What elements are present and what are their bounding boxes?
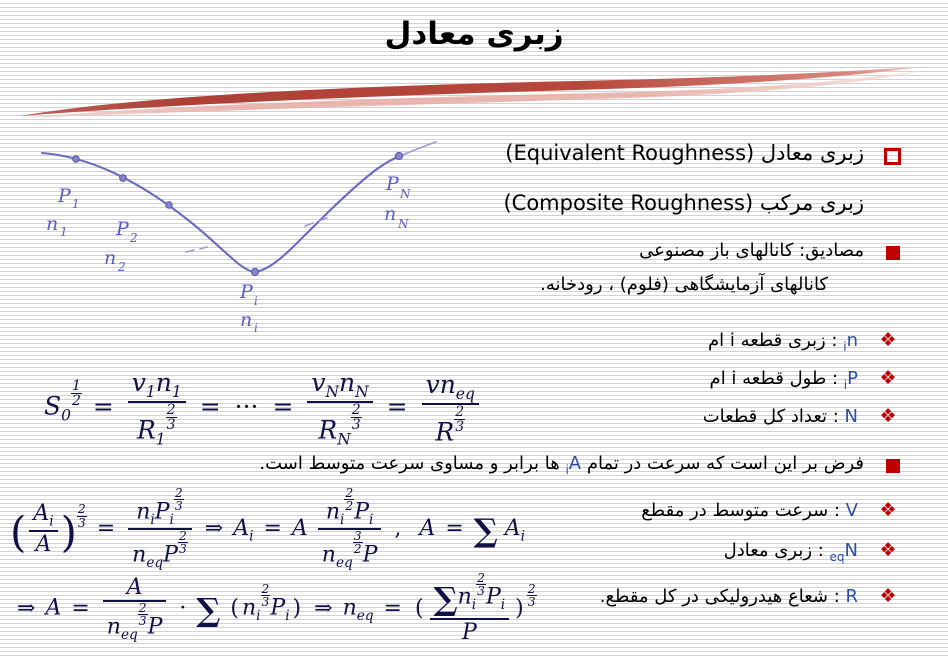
eq3-paren-open-2: ( bbox=[412, 596, 427, 621]
definition-v-text: : سرعت متوسط در مقطع bbox=[641, 500, 845, 521]
bullet-diamond-icon-pi: ❖ bbox=[878, 368, 898, 388]
svg-text:1: 1 bbox=[60, 225, 68, 239]
definition-r-text: : شعاع هیدرولیکی در کل مقطع. bbox=[600, 586, 846, 607]
eq3-implies-1: ⇒ bbox=[14, 596, 38, 621]
page-title: زبری معادل bbox=[0, 16, 948, 52]
eq3-term-p-sub: i bbox=[285, 608, 289, 624]
eq3-fraction-2: ∑ni23Pi P bbox=[430, 572, 510, 645]
svg-text:P: P bbox=[115, 218, 130, 240]
eq2-paren-close: ) bbox=[61, 508, 77, 557]
eq2-sum-term-sub: i bbox=[521, 528, 525, 544]
eq3-term-p: P bbox=[270, 596, 285, 621]
slide-canvas: زبری معادل bbox=[0, 0, 948, 656]
eq1-term-3: vneq R23 bbox=[422, 370, 479, 446]
svg-text:N: N bbox=[399, 187, 411, 201]
eq3-outer-exponent: 23 bbox=[527, 583, 537, 609]
eq3-neq-sub: eq bbox=[357, 608, 374, 624]
heading-line-1: زبری معادل (Equivalent Roughness) bbox=[505, 141, 864, 165]
eq1-term-1: v1n1 R123 bbox=[128, 368, 186, 448]
svg-text:P: P bbox=[57, 185, 72, 207]
svg-text:n: n bbox=[240, 309, 252, 331]
eq1-term-2: vNnN RN23 bbox=[307, 368, 372, 448]
symbol-Neq: N bbox=[845, 540, 858, 561]
eq2-equals-2: = bbox=[260, 516, 284, 541]
symbol-p: P bbox=[847, 368, 858, 389]
symbol-Neq-sub: eq bbox=[830, 550, 845, 564]
eq3-paren-close-2: ) bbox=[512, 596, 527, 621]
eq1-equals-2: = bbox=[197, 392, 224, 421]
eq2-equals-3: = bbox=[442, 516, 466, 541]
eq2-sum-lhs: A bbox=[411, 516, 435, 541]
heading-line-2: زبری مرکب (Composite Roughness) bbox=[503, 191, 864, 215]
svg-text:n: n bbox=[46, 213, 58, 235]
bullet-diamond-icon-v: ❖ bbox=[878, 500, 898, 520]
svg-text:n: n bbox=[104, 247, 116, 269]
eq2-implies: ⇒ bbox=[202, 516, 226, 541]
bullet-hollow-square-heading bbox=[884, 148, 901, 165]
bullet-solid-square-examples bbox=[886, 246, 900, 260]
eq3-implies-2: ⇒ bbox=[311, 596, 335, 621]
definition-v: V : سرعت متوسط در مقطع bbox=[641, 500, 858, 521]
eq3-dot: · bbox=[176, 596, 189, 621]
svg-text:i: i bbox=[254, 294, 258, 308]
eq1-S-sub: 0 bbox=[61, 407, 71, 425]
definition-n: N : تعداد کل قطعات bbox=[703, 406, 858, 427]
eq2-sigma-icon: ∑ bbox=[474, 511, 498, 549]
bullet-diamond-icon-n: ❖ bbox=[878, 406, 898, 426]
eq2-lhs-fraction: Ai A bbox=[29, 501, 57, 556]
eq2-sum-term: A bbox=[505, 516, 521, 541]
eq3-term-exponent: 23 bbox=[261, 583, 271, 609]
assumption-text-a: فرض بر این است که سرعت در تمام bbox=[581, 453, 864, 474]
definition-ni-text: : زبری قطعه i ام bbox=[708, 330, 843, 351]
svg-text:N: N bbox=[397, 217, 409, 231]
examples-line-1: مصادیق: کانالهای باز مصنوعی bbox=[639, 240, 864, 261]
eq3-equals-1: = bbox=[68, 596, 92, 621]
eq2-Ai: A bbox=[233, 516, 249, 541]
bullet-solid-square-assumption bbox=[886, 459, 900, 473]
eq3-paren-open: ( bbox=[227, 596, 242, 621]
eq2-A: A bbox=[292, 516, 308, 541]
bullet-diamond-icon-neq: ❖ bbox=[878, 540, 898, 560]
formula-equivalent-roughness-result: ⇒ A = A neq23P · ∑ (ni23Pi) ⇒ neq = ( ∑n… bbox=[14, 572, 537, 645]
svg-text:i: i bbox=[254, 321, 258, 335]
symbol-n: n bbox=[847, 330, 858, 351]
assumption-text-b: ها برابر و مساوی سرعت متوسط است. bbox=[259, 453, 565, 474]
eq3-term-n-sub: i bbox=[256, 608, 260, 624]
eq3-A: A bbox=[45, 596, 61, 621]
formula-manning-slope-equality: S012 = v1n1 R123 = ··· = vNnN RN23 = vne… bbox=[44, 368, 482, 448]
definition-ni: ni : زبری قطعه i ام bbox=[708, 330, 858, 354]
eq1-ellipsis: ··· bbox=[232, 392, 262, 421]
formula-area-ratio-derivation: ( Ai A )23 = niPi23 neqP23 ⇒ Ai = A ni22… bbox=[10, 487, 525, 571]
examples-line-2: کانالهای آزمایشگاهی (فلوم) ، رودخانه. bbox=[540, 274, 828, 295]
symbol-N: N bbox=[845, 406, 858, 427]
bullet-diamond-icon-ni: ❖ bbox=[878, 330, 898, 350]
eq3-paren-close: ) bbox=[290, 596, 305, 621]
eq2-rhs-fraction-2: ni22Pi neq32P bbox=[318, 487, 382, 571]
eq2-comma: , bbox=[391, 516, 404, 541]
assumption-line: فرض بر این است که سرعت در تمام Ai ها برا… bbox=[259, 453, 864, 477]
eq2-Ai-sub: i bbox=[249, 528, 253, 544]
eq1-equals-4: = bbox=[384, 392, 411, 421]
eq2-rhs-fraction-1: niPi23 neqP23 bbox=[128, 487, 192, 571]
definition-n-text: : تعداد کل قطعات bbox=[703, 406, 845, 427]
eq3-term-n: n bbox=[242, 596, 256, 621]
eq2-paren-open: ( bbox=[10, 508, 26, 557]
eq1-S-exponent: 12 bbox=[71, 379, 82, 408]
eq3-sigma-icon-1: ∑ bbox=[196, 591, 220, 629]
definition-neq: Neq : زبری معادل bbox=[724, 540, 858, 564]
definition-r: R : شعاع هیدرولیکی در کل مقطع. bbox=[600, 586, 858, 607]
bullet-diamond-icon-r: ❖ bbox=[878, 586, 898, 606]
eq1-S: S bbox=[44, 392, 61, 421]
svg-text:1: 1 bbox=[72, 197, 80, 211]
svg-text:2: 2 bbox=[117, 260, 126, 274]
eq2-lhs-exponent: 23 bbox=[77, 503, 87, 529]
svg-text:P: P bbox=[239, 281, 254, 303]
symbol-V: V bbox=[846, 500, 858, 521]
svg-text:2: 2 bbox=[129, 231, 138, 245]
svg-text:n: n bbox=[384, 203, 396, 225]
eq3-neq: n bbox=[343, 596, 357, 621]
definition-pi-text: : طول قطعه i ام bbox=[710, 368, 844, 389]
red-brush-swoosh-icon bbox=[16, 62, 932, 120]
eq1-equals-3: = bbox=[269, 392, 296, 421]
svg-text:P: P bbox=[385, 173, 400, 195]
definition-neq-text: : زبری معادل bbox=[724, 540, 830, 561]
eq1-equals-1: = bbox=[90, 392, 117, 421]
eq3-equals-2: = bbox=[381, 596, 405, 621]
assumption-symbol: A bbox=[569, 453, 581, 474]
channel-cross-section-sketch: P1 n1 P2 n2 Pi ni PN nN bbox=[28, 138, 448, 338]
symbol-R: R bbox=[845, 586, 858, 607]
eq3-fraction-1: A neq23P bbox=[103, 575, 167, 643]
definition-pi: Pi : طول قطعه i ام bbox=[710, 368, 858, 392]
eq2-equals-1: = bbox=[94, 516, 118, 541]
